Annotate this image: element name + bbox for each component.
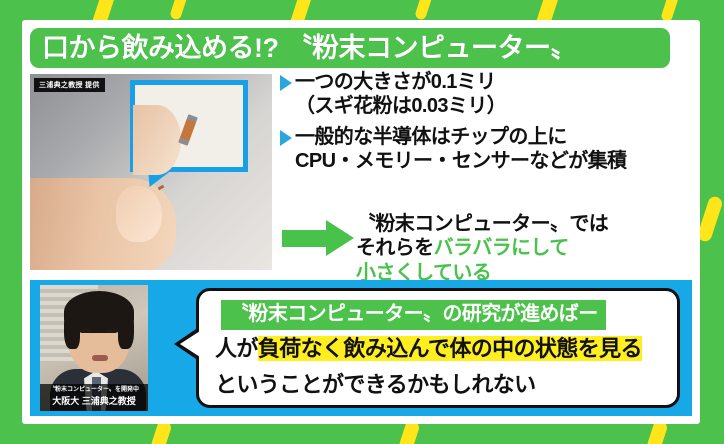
fingernail-shape — [116, 186, 162, 242]
decor-stripe-right-1 — [696, 195, 724, 243]
eye-left-shape — [80, 329, 91, 333]
triangle-right-icon — [280, 130, 292, 146]
inset-chip-shape — [178, 114, 198, 146]
quote-line2-highlight: 負荷なく飲み込んで体の中の状態を見る — [258, 336, 642, 361]
triangle-right-icon — [280, 75, 292, 91]
quote-line2-plain: 人が — [215, 336, 258, 361]
bullet-text: 一つの大きさが0.1ミリ （スギ花粉は0.03ミリ） — [295, 70, 506, 119]
quote-line-1: 〝粉末コンピューター〟の研究が進めばー — [221, 300, 606, 330]
speaker-caption-line1: 〝粉末コンピューター〟を開発中 — [40, 386, 148, 395]
hair-side-left-shape — [64, 309, 80, 349]
mouth-shape — [92, 355, 108, 361]
bullet-list: 一つの大きさが0.1ミリ （スギ花粉は0.03ミリ） 一般的な半導体はチップの上… — [280, 70, 690, 180]
title-banner: 口から飲み込める!? 〝粉末コンピューター〟 — [30, 28, 670, 68]
conclusion-line1: 〝粉末コンピューター〟では — [356, 213, 608, 235]
content-card: 口から飲み込める!? 〝粉末コンピューター〟 三浦典之教授 提供 一つの大きさが… — [22, 20, 700, 424]
graphic-stage: 口から飲み込める!? 〝粉末コンピューター〟 三浦典之教授 提供 一つの大きさが… — [0, 0, 724, 444]
photo-credit: 三浦典之教授 提供 — [34, 78, 105, 92]
photo-zoom-inset — [130, 80, 248, 172]
speaker-name-caption: 〝粉末コンピューター〟を開発中 大阪大 三浦典之教授 — [40, 384, 148, 411]
quote-line-2: 人が負荷なく飲み込んで体の中の状態を見る — [215, 335, 642, 364]
hair-side-right-shape — [118, 309, 134, 349]
quote-bubble: 〝粉末コンピューター〟の研究が進めばー 人が負荷なく飲み込んで体の中の状態を見る… — [196, 288, 680, 408]
eye-right-shape — [106, 329, 117, 333]
arrow-right-icon — [282, 220, 356, 256]
conclusion-line2-highlight: バラバラにして — [434, 237, 569, 259]
bullet-text: 一般的な半導体はチップの上に CPU・メモリー・センサーなどが集積 — [295, 125, 626, 174]
conclusion-block: 〝粉末コンピューター〟では それらをバラバラにして 小さくしている — [282, 212, 608, 285]
inset-skin-shape — [133, 105, 181, 175]
conclusion-line2-plain: それらを — [356, 237, 434, 259]
bullet-item: 一つの大きさが0.1ミリ （スギ花粉は0.03ミリ） — [280, 70, 690, 119]
chip-photo: 三浦典之教授 提供 — [30, 74, 272, 270]
bullet-item: 一般的な半導体はチップの上に CPU・メモリー・センサーなどが集積 — [280, 125, 690, 174]
quote-line-3: ということができるかもしれない — [215, 371, 536, 400]
conclusion-text: 〝粉末コンピューター〟では それらをバラバラにして 小さくしている — [356, 212, 608, 285]
decor-stripe-top-4 — [414, 0, 437, 21]
speaker-panel: 〝粉末コンピューター〟を開発中 大阪大 三浦典之教授 〝粉末コンピューター〟の研… — [30, 280, 692, 416]
bubble-tail-inner — [180, 331, 200, 357]
speaker-portrait: 〝粉末コンピューター〟を開発中 大阪大 三浦典之教授 — [40, 285, 148, 411]
decor-stripe-top-2 — [169, 0, 192, 21]
speaker-caption-line2: 大阪大 三浦典之教授 — [40, 395, 148, 408]
page-title: 口から飲み込める!? 〝粉末コンピューター〟 — [30, 35, 577, 62]
